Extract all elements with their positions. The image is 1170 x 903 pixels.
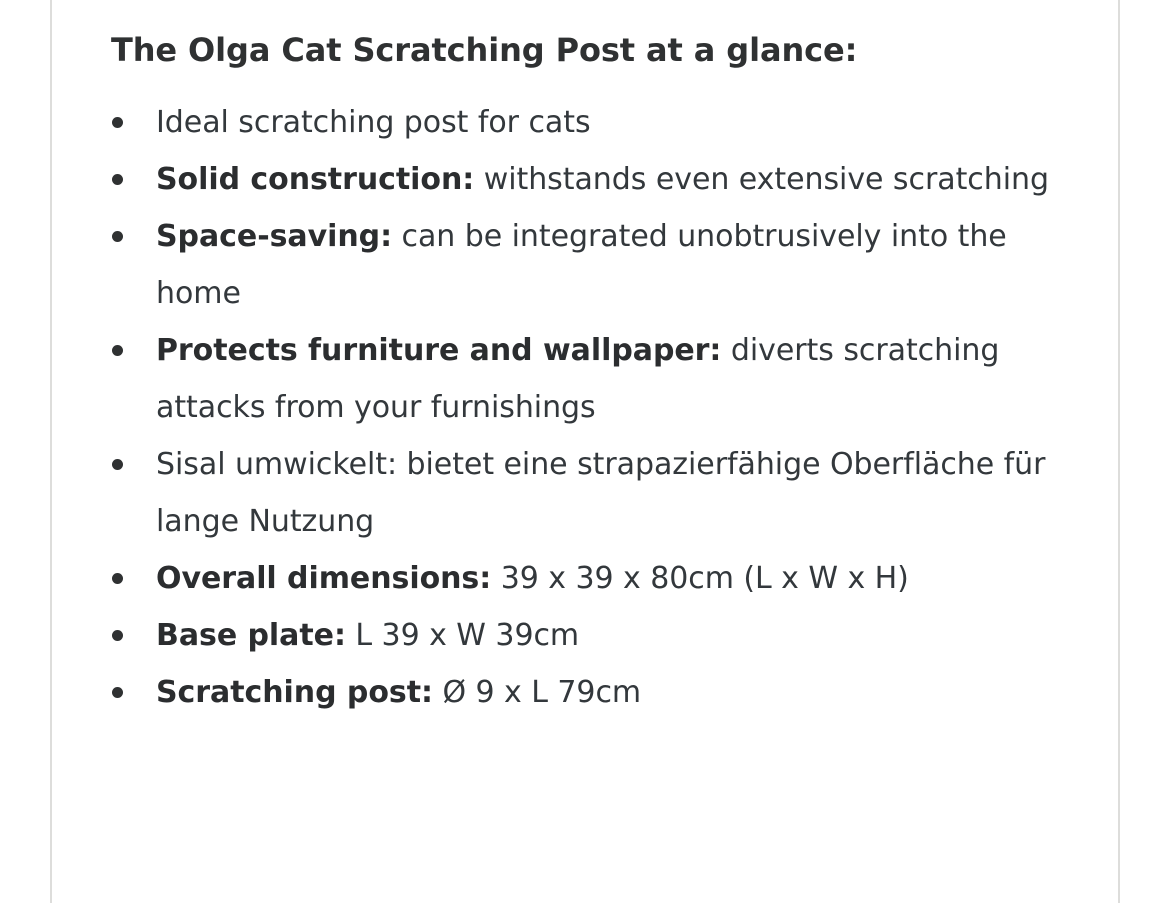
bullet-icon <box>112 345 123 356</box>
list-item-body: 39 x 39 x 80cm (L x W x H) <box>501 561 909 596</box>
list-item-lead: Overall dimensions: <box>156 561 491 596</box>
bullet-icon <box>112 630 123 641</box>
right-divider-rule <box>1118 0 1120 903</box>
bullet-icon <box>112 174 123 185</box>
list-item-lead: Scratching post: <box>156 675 433 710</box>
bullet-icon <box>112 231 123 242</box>
bullet-icon <box>112 459 123 470</box>
list-item: Space-saving: can be integrated unobtrus… <box>52 208 1118 322</box>
bullet-icon <box>112 573 123 584</box>
list-item-lead: Base plate: <box>156 618 346 653</box>
list-item-body: Ideal scratching post for cats <box>156 105 591 140</box>
list-item: Overall dimensions: 39 x 39 x 80cm (L x … <box>52 550 1118 607</box>
list-item: Scratching post: Ø 9 x L 79cm <box>52 664 1118 721</box>
page-title: The Olga Cat Scratching Post at a glance… <box>52 0 1118 72</box>
list-item: Sisal umwickelt: bietet eine strapazierf… <box>52 436 1118 550</box>
list-item-lead: Space-saving: <box>156 219 392 254</box>
list-item: Protects furniture and wallpaper: divert… <box>52 322 1118 436</box>
list-item-lead: Solid construction: <box>156 162 474 197</box>
product-highlights-panel: The Olga Cat Scratching Post at a glance… <box>0 0 1170 903</box>
list-item-body: L 39 x W 39cm <box>355 618 579 653</box>
bullet-icon <box>112 687 123 698</box>
content-column: The Olga Cat Scratching Post at a glance… <box>52 0 1118 903</box>
list-item: Solid construction: withstands even exte… <box>52 151 1118 208</box>
feature-list: Ideal scratching post for cats Solid con… <box>52 94 1118 721</box>
list-item-body: Sisal umwickelt: bietet eine strapazierf… <box>156 447 1045 539</box>
list-item: Ideal scratching post for cats <box>52 94 1118 151</box>
list-item-body: Ø 9 x L 79cm <box>442 675 641 710</box>
list-item-lead: Protects furniture and wallpaper: <box>156 333 721 368</box>
bullet-icon <box>112 117 123 128</box>
list-item: Base plate: L 39 x W 39cm <box>52 607 1118 664</box>
list-item-body: withstands even extensive scratching <box>484 162 1049 197</box>
